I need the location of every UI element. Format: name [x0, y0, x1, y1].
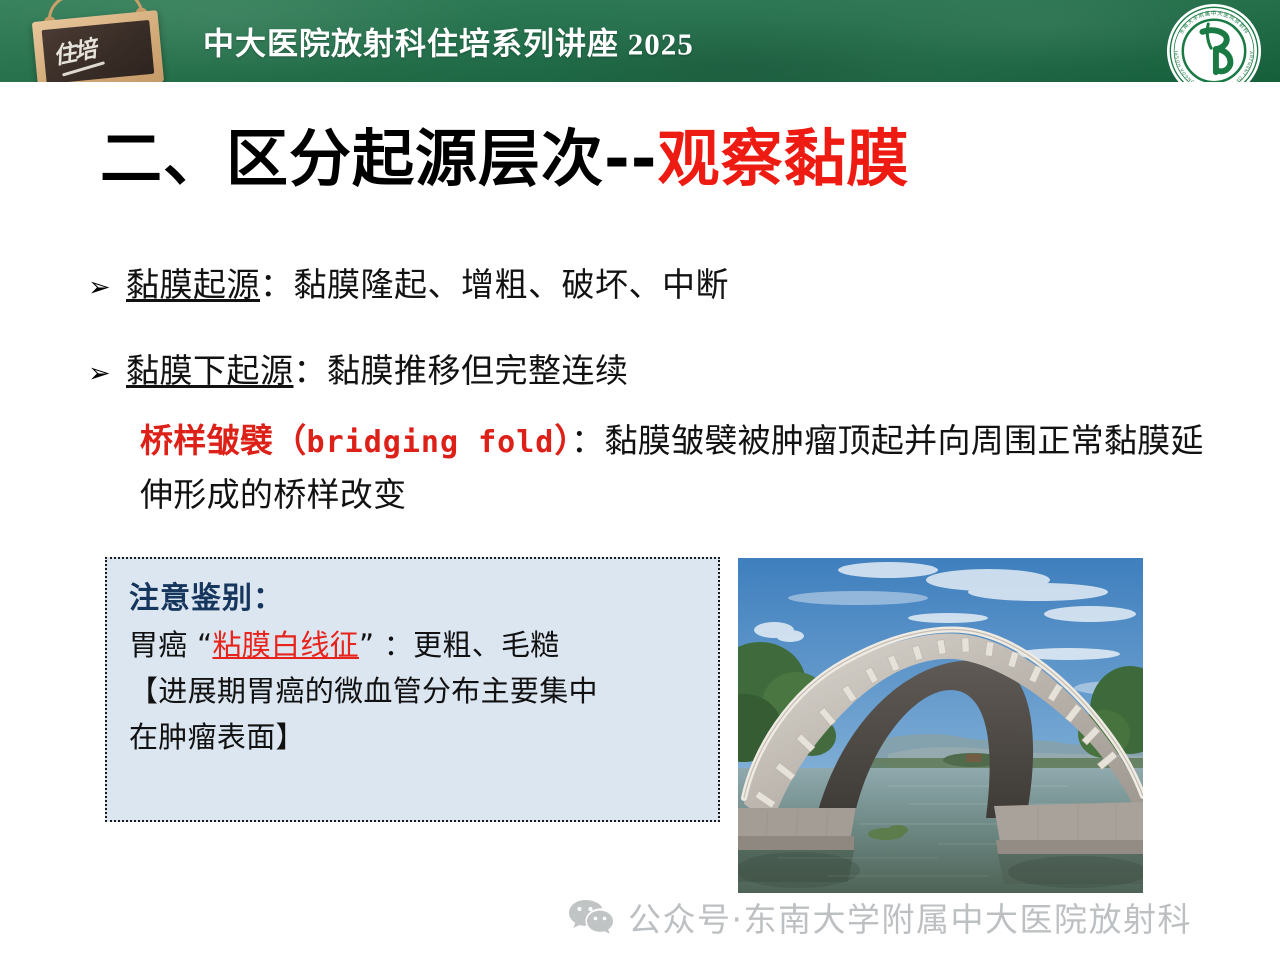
note-line-1-emphasis: 粘膜白线征 [212, 628, 359, 662]
arrow-bullet-icon: ➢ [88, 274, 126, 301]
bridging-fold-term-cn: 桥样皱襞 [140, 421, 273, 460]
note-heading: 注意鉴别： [129, 573, 698, 617]
note-line-3: 在肿瘤表面】 [129, 715, 698, 761]
header-banner: 住培 中大医院放射科住培系列讲座 2025 东南大学附属中大医院放射科 DEPA… [0, 0, 1280, 82]
bullet-item-submucosal-origin: ➢ 黏膜下起源 ： 黏膜推移但完整连续 [88, 344, 629, 392]
bullet-text: 黏膜推移但完整连续 [327, 344, 629, 392]
zhongda-radiology-emblem: 东南大学附属中大医院放射科 DEPARTMENT OF RADIOLOGY ZH… [1166, 3, 1262, 82]
paren-close: ） [554, 421, 571, 460]
chalkboard-frame: 住培 [32, 10, 164, 82]
bridging-fold-paragraph: 桥样皱襞（bridging fold）：黏膜皱襞被肿瘤顶起并向周围正常黏膜延伸形… [140, 414, 1220, 521]
wechat-icon [568, 897, 614, 937]
paren-open: （ [273, 421, 306, 460]
bullet-label: 黏膜下起源 [126, 344, 294, 392]
paragraph-colon: ： [571, 421, 604, 460]
stone-arch-bridge-photo [738, 558, 1143, 893]
page-title-accent: 观察黏膜 [657, 122, 909, 195]
note-line-1-post: ” ：更粗、毛糙 [359, 628, 560, 662]
page-title: 二、区分起源层次--观察黏膜 [100, 126, 909, 191]
bullet-separator: ： [260, 258, 294, 306]
bullet-text: 黏膜隆起、增粗、破坏、中断 [294, 258, 730, 306]
watermark-text: 公众号·东南大学附属中大医院放射科 [628, 893, 1192, 941]
note-line-1: 胃癌 “粘膜白线征” ：更粗、毛糙 [129, 623, 698, 669]
note-line-1-pre: 胃癌 “ [129, 628, 212, 662]
arrow-bullet-icon: ➢ [88, 360, 126, 387]
page-title-black: 二、区分起源层次-- [100, 122, 657, 195]
wechat-watermark: 公众号·东南大学附属中大医院放射科 [568, 893, 1192, 941]
bullet-separator: ： [294, 344, 328, 392]
lecture-series-title: 中大医院放射科住培系列讲座 2025 [203, 19, 694, 64]
bullet-item-mucosal-origin: ➢ 黏膜起源 ： 黏膜隆起、增粗、破坏、中断 [88, 258, 729, 306]
bullet-label: 黏膜起源 [126, 258, 260, 306]
note-box: 注意鉴别： 胃癌 “粘膜白线征” ：更粗、毛糙 【进展期胃癌的微血管分布主要集中… [105, 557, 720, 822]
chalkboard-logo: 住培 [30, 0, 165, 82]
note-line-2: 【进展期胃癌的微血管分布主要集中 [129, 669, 698, 715]
chalkboard-slate: 住培 [42, 20, 155, 82]
bridging-fold-term-en: bridging fold [307, 425, 555, 460]
